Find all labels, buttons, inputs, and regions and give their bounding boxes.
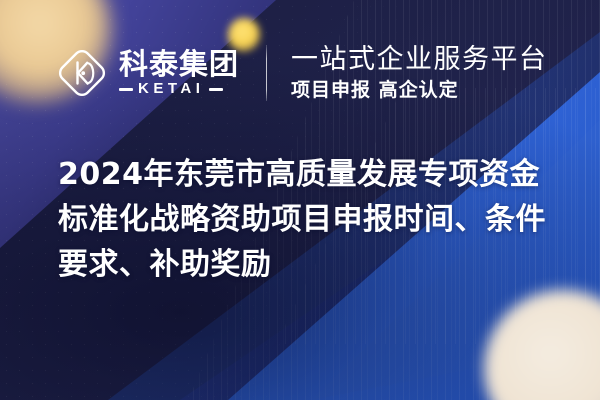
tagline-primary: 一站式企业服务平台 xyxy=(291,44,548,76)
tagline-secondary: 项目申报 高企认定 xyxy=(291,78,548,102)
tagline-block: 一站式企业服务平台 项目申报 高企认定 xyxy=(291,44,548,102)
wordmark-rule-left-icon xyxy=(119,88,133,91)
wordmark-rule-right-icon xyxy=(209,88,223,91)
brand-header: 科泰集团 KETAI 一站式企业服务平台 项目申报 高企认定 xyxy=(54,40,548,106)
brand-name-en-row: KETAI xyxy=(119,81,239,97)
brand-name-en: KETAI xyxy=(138,81,204,97)
headline-title: 2024年东莞市高质量发展专项资金标准化战略资助项目申报时间、条件要求、补助奖励 xyxy=(58,152,564,287)
vertical-divider xyxy=(266,45,267,101)
promo-banner: 科泰集团 KETAI 一站式企业服务平台 项目申报 高企认定 2024年东莞市高… xyxy=(0,0,600,400)
brand-wordmark: 科泰集团 KETAI xyxy=(119,49,239,97)
ketai-diamond-monogram-icon xyxy=(54,45,110,101)
brand-name-cn: 科泰集团 xyxy=(119,49,239,80)
